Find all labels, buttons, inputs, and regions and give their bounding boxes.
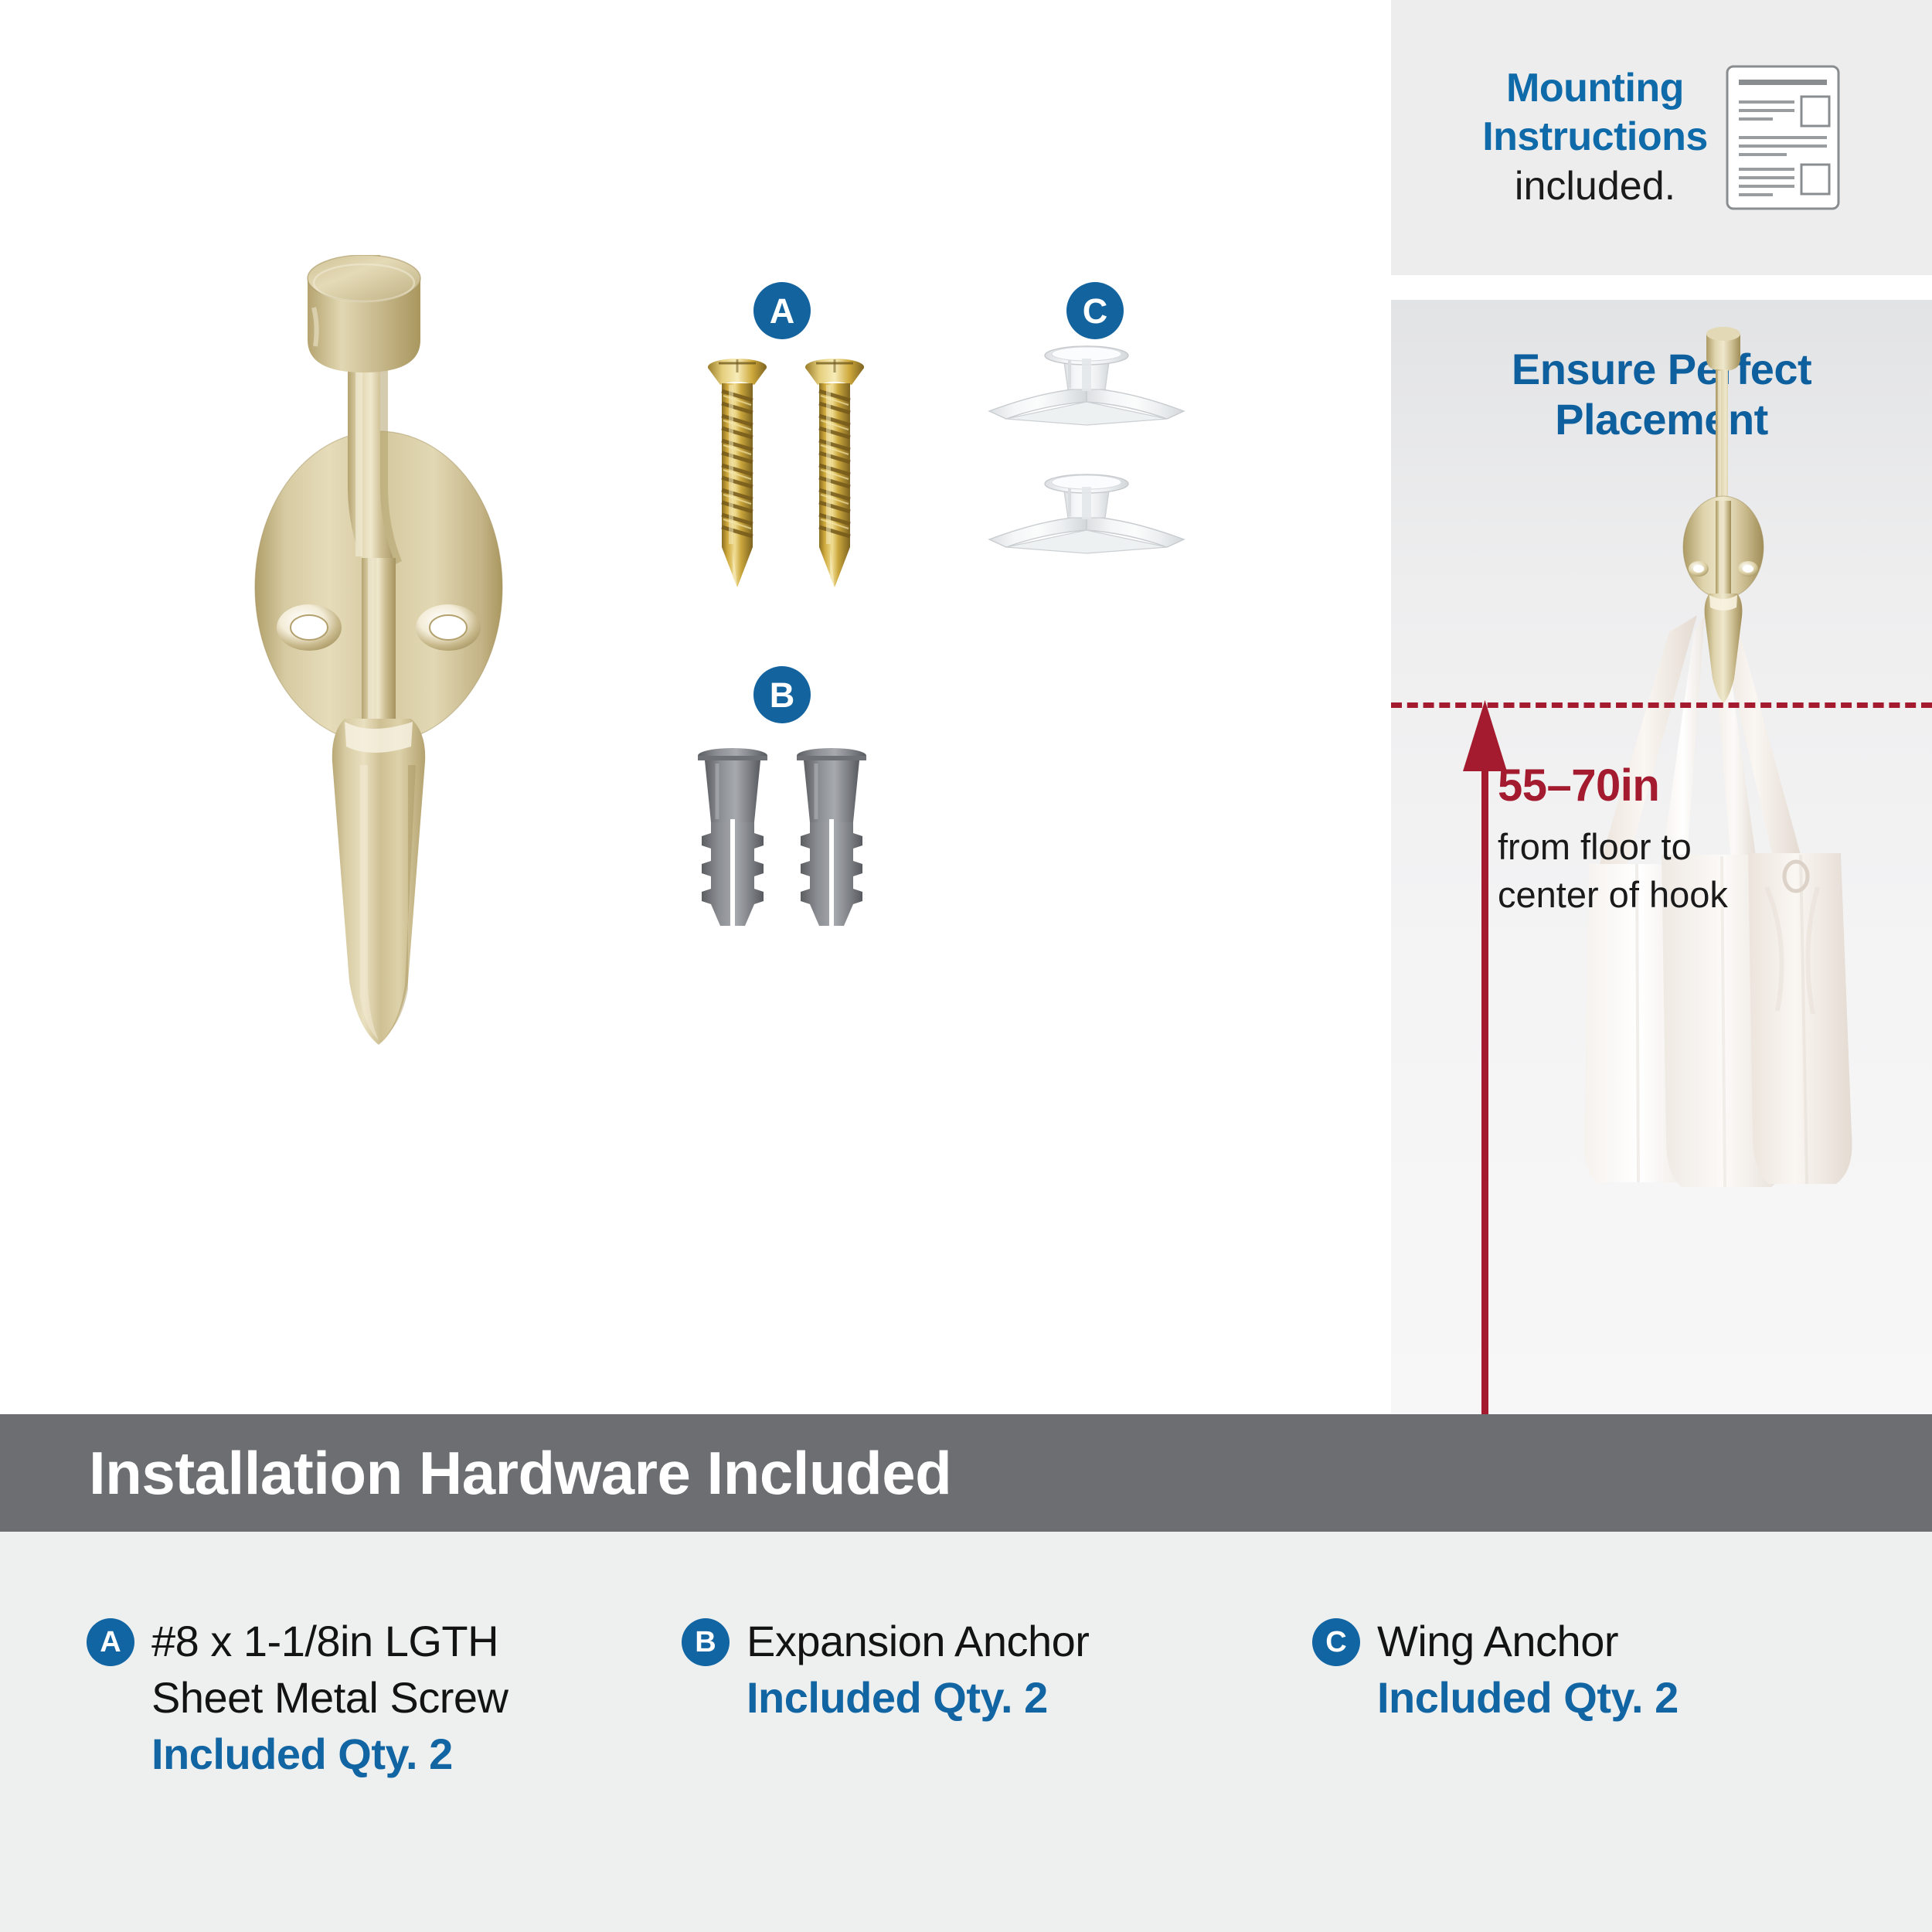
installation-hardware-bar: Installation Hardware Included: [0, 1414, 1932, 1532]
document-icon: [1725, 64, 1841, 211]
hardware-badge-b-label: B: [695, 1626, 716, 1659]
installation-hardware-title: Installation Hardware Included: [89, 1443, 951, 1503]
hardware-text-a: #8 x 1-1/8in LGTH Sheet Metal Screw Incl…: [151, 1614, 508, 1782]
mounting-line-1: Mounting: [1482, 64, 1708, 113]
mounting-instructions-panel: Mounting Instructions included.: [1391, 0, 1932, 275]
wall-hook-product-image: [216, 255, 541, 1182]
hardware-badge-b: B: [682, 1618, 730, 1666]
hardware-b-name-line-1: Expansion Anchor: [747, 1614, 1089, 1670]
measurement-callout: 55–70in from floor to center of hook: [1498, 760, 1853, 920]
hardware-item-c: C Wing Anchor Included Qty. 2: [1312, 1614, 1900, 1782]
ensure-placement-panel: Ensure Perfect Placement: [1391, 300, 1932, 1414]
callout-badge-a: A: [753, 282, 811, 339]
hardware-item-b: B Expansion Anchor Included Qty. 2: [682, 1614, 1300, 1782]
callout-badge-b: B: [753, 666, 811, 723]
mounted-hook-illustration: [1654, 315, 1793, 794]
expansion-anchors-image: [688, 734, 904, 943]
hardware-badge-a-label: A: [100, 1626, 121, 1659]
callout-badge-a-label: A: [770, 294, 795, 328]
hardware-a-name-line-1: #8 x 1-1/8in LGTH: [151, 1614, 508, 1670]
measurement-desc-line-1: from floor to: [1498, 823, 1853, 872]
hardware-text-b: Expansion Anchor Included Qty. 2: [747, 1614, 1089, 1726]
product-infographic: A: [0, 0, 1932, 1932]
hardware-c-name-line-1: Wing Anchor: [1377, 1614, 1679, 1670]
mounting-line-2: Instructions: [1482, 113, 1708, 162]
hardware-text-c: Wing Anchor Included Qty. 2: [1377, 1614, 1679, 1726]
sheet-metal-screws-image: [696, 348, 896, 611]
hardware-badge-c: C: [1312, 1618, 1360, 1666]
callout-badge-b-label: B: [770, 678, 795, 713]
wing-anchors-image: [951, 340, 1229, 595]
hardware-item-a: A #8 x 1-1/8in LGTH Sheet Metal Screw In…: [87, 1614, 674, 1782]
hardware-legend-section: A #8 x 1-1/8in LGTH Sheet Metal Screw In…: [0, 1532, 1932, 1932]
product-stage: A: [0, 0, 1391, 1414]
hardware-badge-a: A: [87, 1618, 134, 1666]
measurement-desc-line-2: center of hook: [1498, 871, 1853, 920]
hardware-a-qty: Included Qty. 2: [151, 1726, 508, 1783]
measurement-value: 55–70in: [1498, 760, 1853, 812]
hardware-badge-c-label: C: [1325, 1626, 1346, 1659]
mounting-line-3: included.: [1482, 162, 1708, 211]
callout-badge-c: C: [1066, 282, 1124, 339]
hardware-a-name-line-2: Sheet Metal Screw: [151, 1670, 508, 1726]
hardware-c-qty: Included Qty. 2: [1377, 1670, 1679, 1726]
callout-badge-c-label: C: [1083, 294, 1108, 328]
mounting-instructions-text: Mounting Instructions included.: [1482, 64, 1708, 211]
hardware-b-qty: Included Qty. 2: [747, 1670, 1089, 1726]
